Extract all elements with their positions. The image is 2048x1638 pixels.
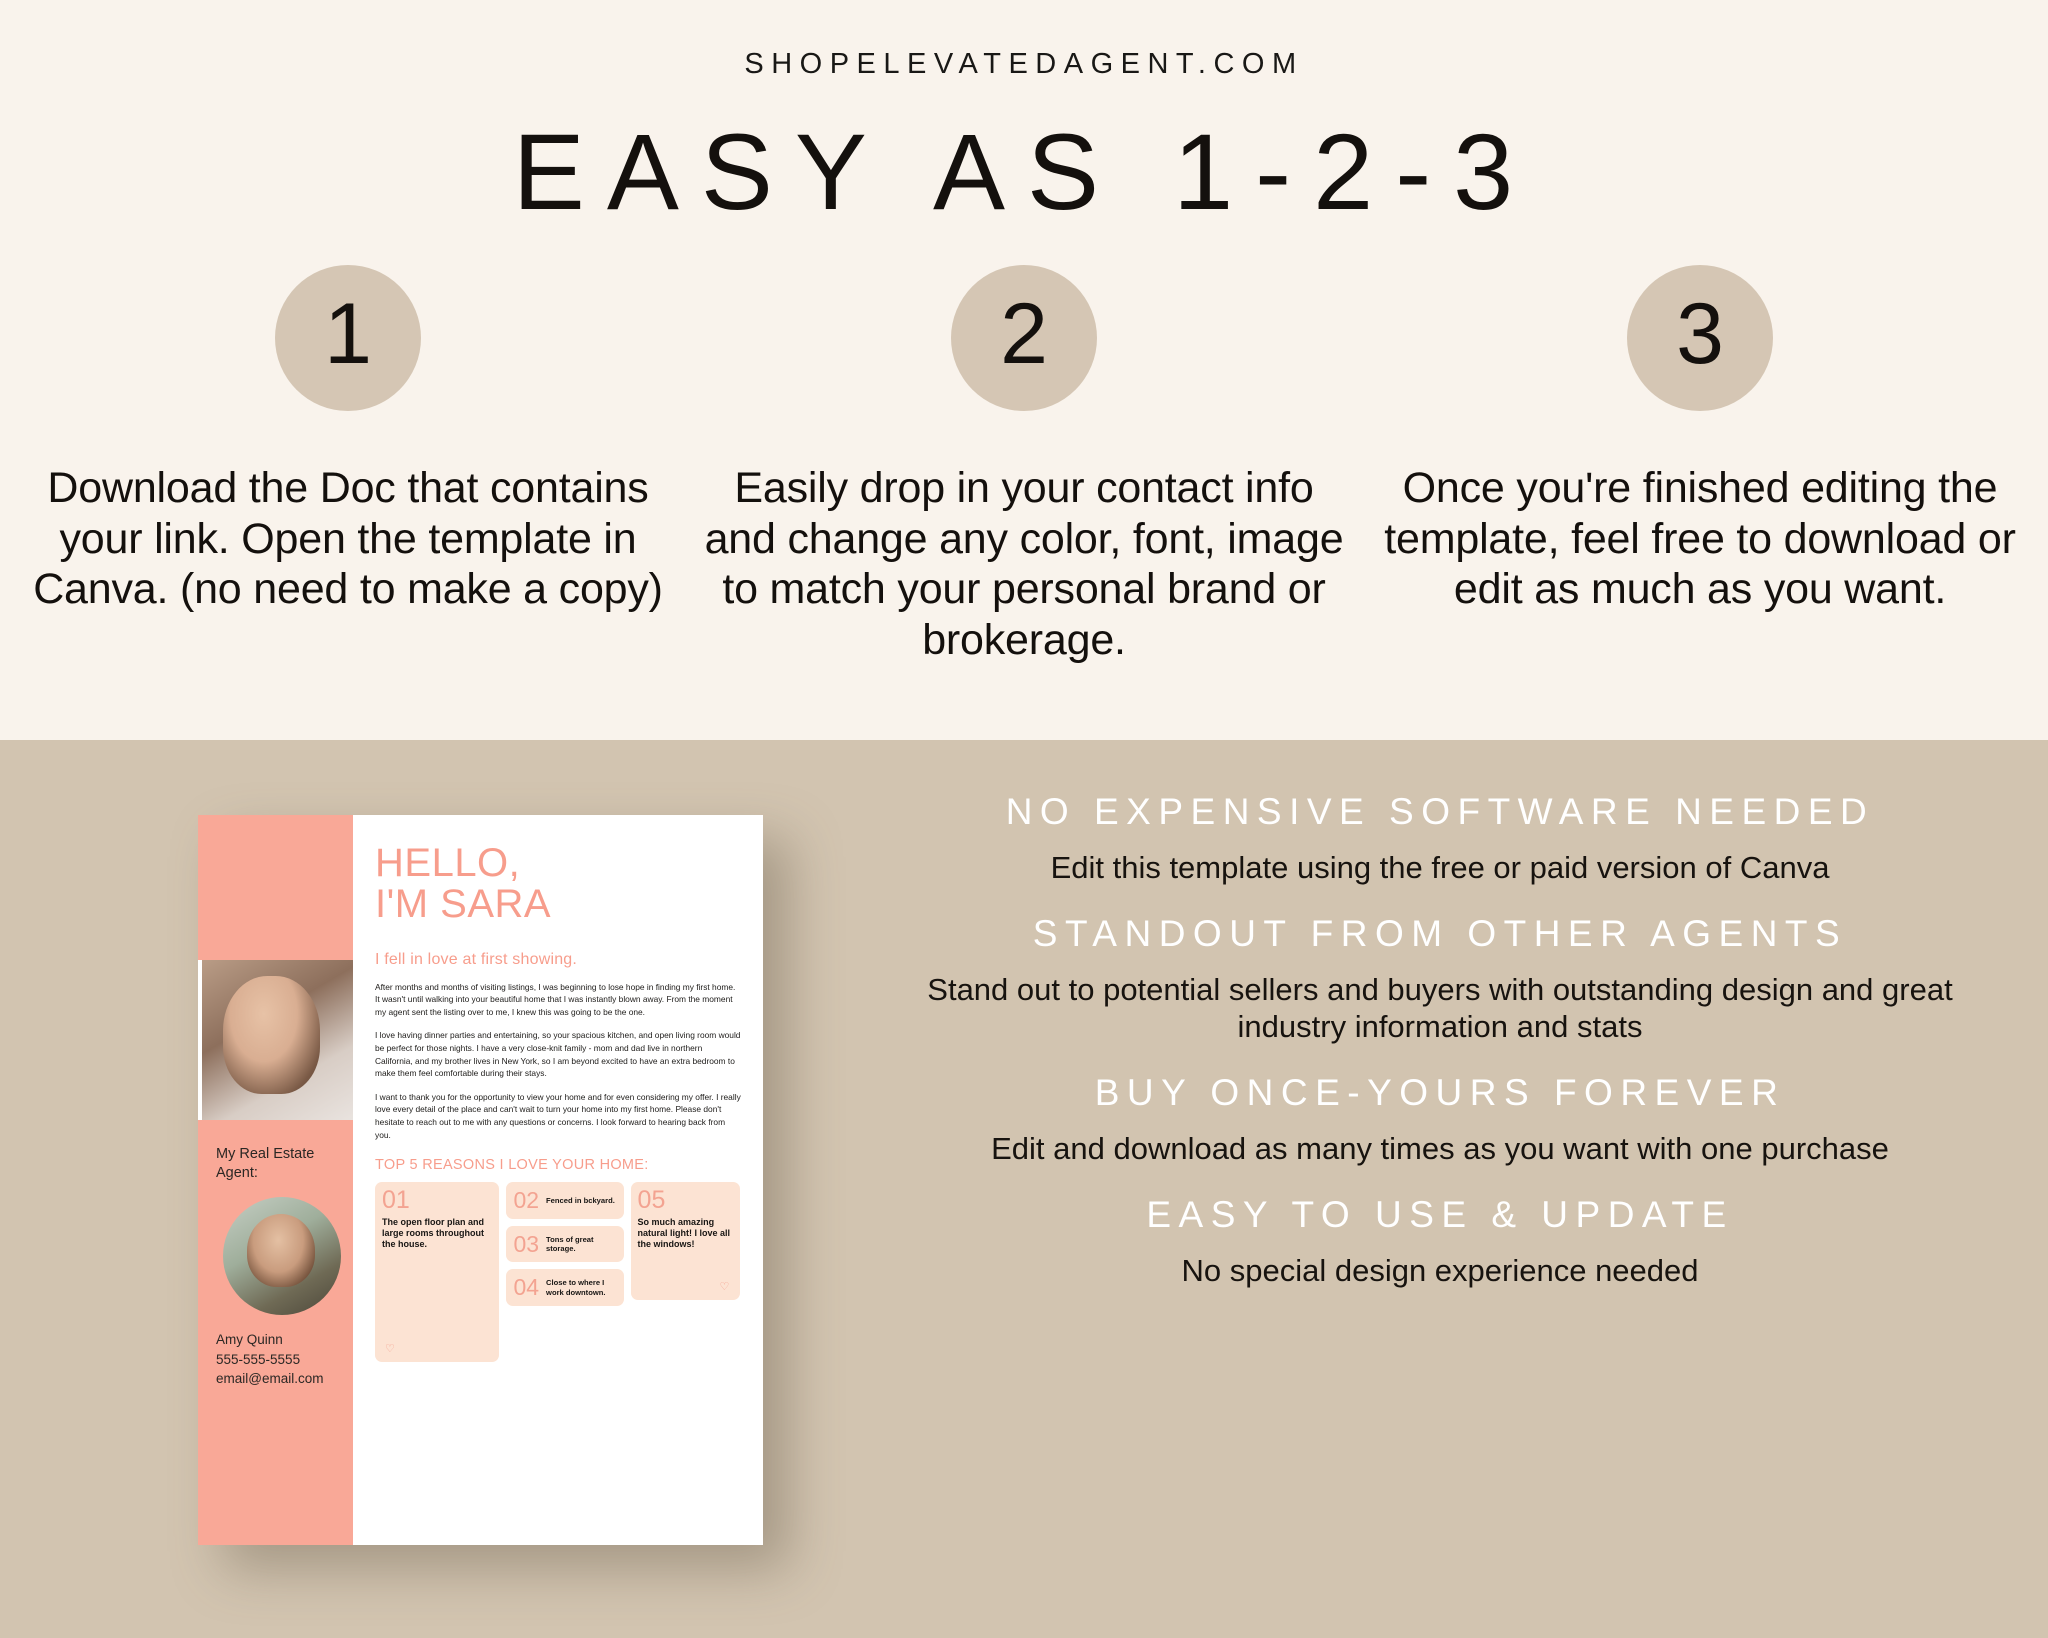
step-3-number: 3	[1676, 291, 1724, 377]
document-subheading: I fell in love at first showing.	[375, 951, 741, 969]
step-3-number-badge: 3	[1627, 265, 1773, 411]
reason-box-01: 01 The open floor plan and large rooms t…	[375, 1182, 499, 1362]
benefit-2-body: Stand out to potential sellers and buyer…	[880, 971, 2000, 1045]
reason-box-04: 04 Close to where I work downtown.	[506, 1269, 623, 1306]
site-url: SHOPELEVATEDAGENT.COM	[0, 0, 2048, 81]
reason-01-text: The open floor plan and large rooms thro…	[382, 1217, 492, 1250]
reasons-title: TOP 5 REASONS I LOVE YOUR HOME:	[375, 1157, 741, 1173]
benefit-4-body: No special design experience needed	[880, 1252, 2000, 1289]
benefit-2-heading: STANDOUT FROM OTHER AGENTS	[880, 914, 2000, 955]
document-sidebar: My Real Estate Agent: Amy Quinn 555-555-…	[198, 815, 353, 1545]
reason-box-05: 05 So much amazing natural light! I love…	[631, 1182, 741, 1300]
sidebar-pink-block-top	[198, 815, 353, 960]
step-2-text: Easily drop in your contact info and cha…	[694, 463, 1354, 666]
benefit-3: BUY ONCE-YOURS FOREVER Edit and download…	[880, 1073, 2000, 1167]
step-1-number: 1	[324, 291, 372, 377]
reason-05-number: 05	[638, 1188, 734, 1213]
benefit-1-body: Edit this template using the free or pai…	[880, 849, 2000, 886]
agent-label: My Real Estate Agent:	[216, 1145, 346, 1182]
reason-04-text: Close to where I work downtown.	[546, 1278, 617, 1297]
reason-02-text: Fenced in bckyard.	[546, 1196, 615, 1205]
benefit-3-body: Edit and download as many times as you w…	[880, 1130, 2000, 1167]
agent-phone: 555-555-5555	[216, 1350, 351, 1370]
template-document: My Real Estate Agent: Amy Quinn 555-555-…	[198, 815, 763, 1545]
document-paragraph-2: I love having dinner parties and enterta…	[375, 1029, 741, 1079]
step-3: 3 Once you're finished editing the templ…	[1370, 265, 2030, 666]
document-paragraph-3: I want to thank you for the opportunity …	[375, 1091, 741, 1141]
benefits-list: NO EXPENSIVE SOFTWARE NEEDED Edit this t…	[880, 792, 2000, 1289]
agent-contact: Amy Quinn 555-555-5555 email@email.com	[216, 1330, 351, 1389]
document-heading-line2: I'M SARA	[375, 884, 741, 925]
benefit-1: NO EXPENSIVE SOFTWARE NEEDED Edit this t…	[880, 792, 2000, 886]
benefit-3-heading: BUY ONCE-YOURS FOREVER	[880, 1073, 2000, 1114]
heart-icon-right: ♡	[719, 1280, 730, 1293]
document-heading-line1: HELLO,	[375, 843, 741, 884]
reason-03-number: 03	[513, 1233, 539, 1256]
step-1-text: Download the Doc that contains your link…	[28, 463, 668, 615]
benefit-4-heading: EASY TO USE & UPDATE	[880, 1195, 2000, 1236]
reason-01-number: 01	[382, 1188, 492, 1213]
reasons-column-middle: 02 Fenced in bckyard. 03 Tons of great s…	[506, 1182, 623, 1362]
steps-row: 1 Download the Doc that contains your li…	[0, 265, 2048, 666]
top-section: SHOPELEVATEDAGENT.COM EASY AS 1-2-3 1 Do…	[0, 0, 2048, 740]
reason-03-text: Tons of great storage.	[546, 1235, 617, 1254]
benefit-4: EASY TO USE & UPDATE No special design e…	[880, 1195, 2000, 1289]
reason-04-number: 04	[513, 1276, 539, 1299]
page-title: EASY AS 1-2-3	[0, 113, 2048, 232]
document-body: HELLO, I'M SARA I fell in love at first …	[353, 815, 763, 1545]
step-2-number: 2	[1000, 291, 1048, 377]
reasons-grid: 01 The open floor plan and large rooms t…	[375, 1182, 741, 1362]
template-mockup: My Real Estate Agent: Amy Quinn 555-555-…	[198, 815, 763, 1545]
reasons-column-left: 01 The open floor plan and large rooms t…	[375, 1182, 499, 1362]
buyer-photo	[202, 960, 353, 1120]
document-heading: HELLO, I'M SARA	[375, 843, 741, 925]
agent-email: email@email.com	[216, 1369, 351, 1389]
step-2-number-badge: 2	[951, 265, 1097, 411]
reason-02-number: 02	[513, 1189, 539, 1212]
step-2: 2 Easily drop in your contact info and c…	[694, 265, 1354, 666]
step-1: 1 Download the Doc that contains your li…	[18, 265, 678, 666]
reason-box-03: 03 Tons of great storage.	[506, 1226, 623, 1263]
document-paragraph-1: After months and months of visiting list…	[375, 981, 741, 1019]
reason-05-text: So much amazing natural light! I love al…	[638, 1217, 734, 1250]
reason-box-02: 02 Fenced in bckyard.	[506, 1182, 623, 1219]
benefit-2: STANDOUT FROM OTHER AGENTS Stand out to …	[880, 914, 2000, 1045]
benefit-1-heading: NO EXPENSIVE SOFTWARE NEEDED	[880, 792, 2000, 833]
agent-name: Amy Quinn	[216, 1330, 351, 1350]
step-3-text: Once you're finished editing the templat…	[1380, 463, 2020, 615]
bottom-section: My Real Estate Agent: Amy Quinn 555-555-…	[0, 740, 2048, 1638]
step-1-number-badge: 1	[275, 265, 421, 411]
reasons-column-right: 05 So much amazing natural light! I love…	[631, 1182, 741, 1362]
heart-icon: ♡	[385, 1342, 396, 1355]
agent-avatar	[223, 1197, 341, 1315]
